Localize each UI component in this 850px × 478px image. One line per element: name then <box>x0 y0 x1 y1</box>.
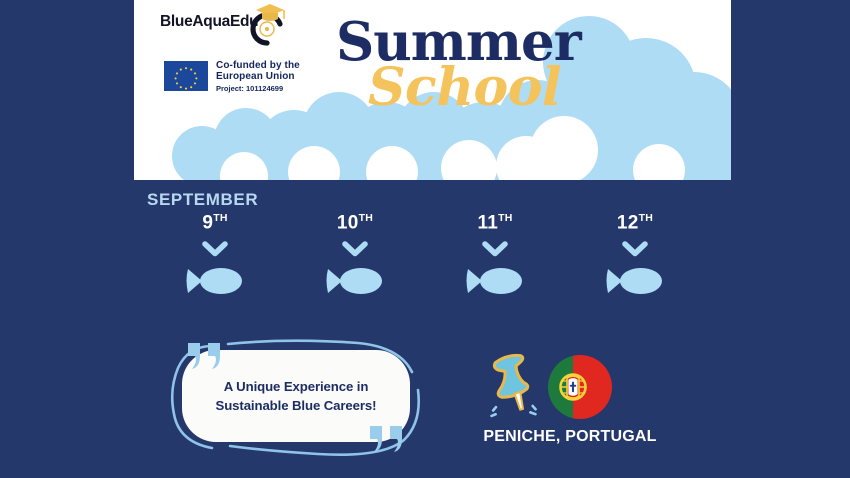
graduation-cap-icon <box>244 2 290 46</box>
date-column-2: 10TH <box>285 212 425 298</box>
chevron-down-icon <box>482 241 508 257</box>
poster-root: BlueAquaEdu <box>0 0 850 478</box>
chevron-down-icon <box>342 241 368 257</box>
date-value-4: 12 <box>617 212 639 233</box>
fish-icon <box>604 264 666 298</box>
title-line-school: School <box>368 63 724 112</box>
quote-line-2: Sustainable Blue Careers! <box>216 396 377 415</box>
eu-funding-text: Co-funded by the European Union Project:… <box>216 60 300 93</box>
eu-project-number: Project: 101124699 <box>216 85 300 93</box>
chevron-down-icon <box>622 241 648 257</box>
date-suffix-2: TH <box>359 212 373 224</box>
date-column-3: 11TH <box>425 212 565 298</box>
portugal-flag-icon <box>547 354 613 420</box>
blueaquaedu-logo: BlueAquaEdu <box>148 4 328 44</box>
dates-row: 9TH 10TH 11TH <box>145 212 705 298</box>
eu-funding-line-1: Co-funded by the <box>216 60 300 71</box>
location-icons <box>485 350 625 424</box>
date-value-1: 9 <box>202 212 213 233</box>
quotation-mark-icon <box>184 341 226 371</box>
fish-icon <box>464 264 526 298</box>
brand-block: BlueAquaEdu <box>148 4 328 44</box>
date-column-1: 9TH <box>145 212 285 298</box>
chevron-down-icon <box>202 241 228 257</box>
poster-title: Summer School <box>324 18 724 112</box>
date-suffix-1: TH <box>213 212 227 224</box>
date-number-3: 11TH <box>477 212 512 234</box>
date-value-2: 10 <box>337 212 359 233</box>
quote-text: A Unique Experience in Sustainable Blue … <box>204 377 389 415</box>
fish-icon <box>324 264 386 298</box>
month-label: SEPTEMBER <box>147 190 258 210</box>
date-number-4: 12TH <box>617 212 653 234</box>
quotation-mark-icon <box>366 424 408 454</box>
header-card: BlueAquaEdu <box>134 0 731 180</box>
quote-card: A Unique Experience in Sustainable Blue … <box>168 338 424 460</box>
location-label: PENICHE, PORTUGAL <box>470 428 670 446</box>
date-number-2: 10TH <box>337 212 373 234</box>
eu-funding-badge: Co-funded by the European Union Project:… <box>164 60 300 93</box>
date-suffix-4: TH <box>639 212 653 224</box>
date-column-4: 12TH <box>565 212 705 298</box>
fish-icon <box>184 264 246 298</box>
date-suffix-3: TH <box>498 212 512 224</box>
quote-line-1: A Unique Experience in <box>216 377 377 396</box>
date-value-3: 11 <box>477 212 498 233</box>
eu-funding-line-2: European Union <box>216 71 300 82</box>
eu-flag-icon <box>164 61 208 91</box>
date-number-1: 9TH <box>202 212 227 234</box>
map-pin-icon <box>485 352 547 424</box>
